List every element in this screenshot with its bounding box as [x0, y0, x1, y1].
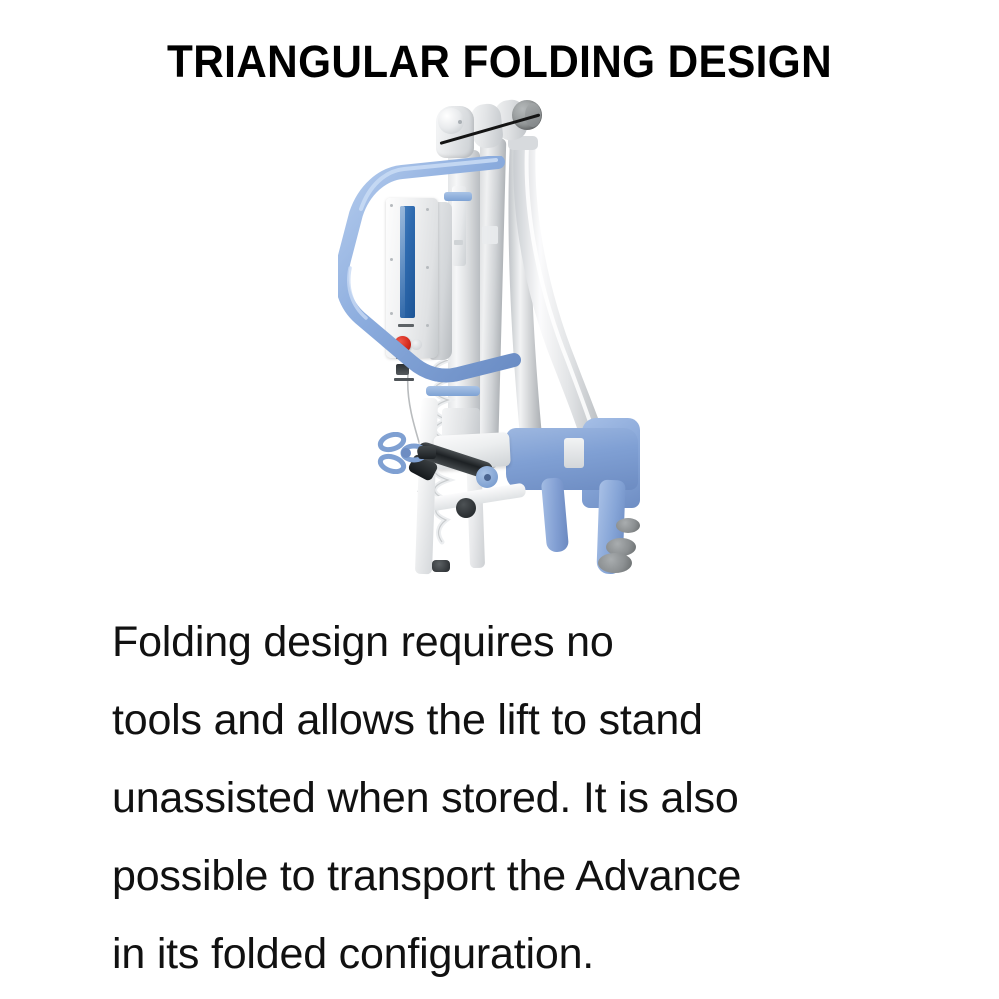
description-line: in its folded configuration.	[112, 915, 972, 993]
product-feature-page: TRIANGULAR FOLDING DESIGN	[0, 0, 999, 999]
description-line: tools and allows the lift to stand	[112, 681, 972, 759]
pivot-screw	[458, 120, 462, 124]
product-image	[330, 98, 660, 598]
page-title: TRIANGULAR FOLDING DESIGN	[30, 36, 969, 88]
knob-stem	[418, 446, 436, 459]
base-shroud-notch	[564, 438, 584, 468]
description-line: Folding design requires no	[112, 603, 972, 681]
description-line: unassisted when stored. It is also	[112, 759, 972, 837]
castor-wheel	[616, 518, 640, 533]
handle-bracket-upper	[444, 192, 472, 201]
handle-bracket-lower	[426, 386, 480, 396]
castor-pivot-black	[456, 498, 476, 518]
description-line: possible to transport the Advance	[112, 837, 972, 915]
actuator-pivot-hole	[484, 474, 491, 481]
castor-wheel	[598, 553, 632, 573]
castor-front-small	[432, 560, 450, 572]
description-text: Folding design requires no tools and all…	[112, 603, 972, 993]
blue-push-handle	[338, 156, 524, 396]
